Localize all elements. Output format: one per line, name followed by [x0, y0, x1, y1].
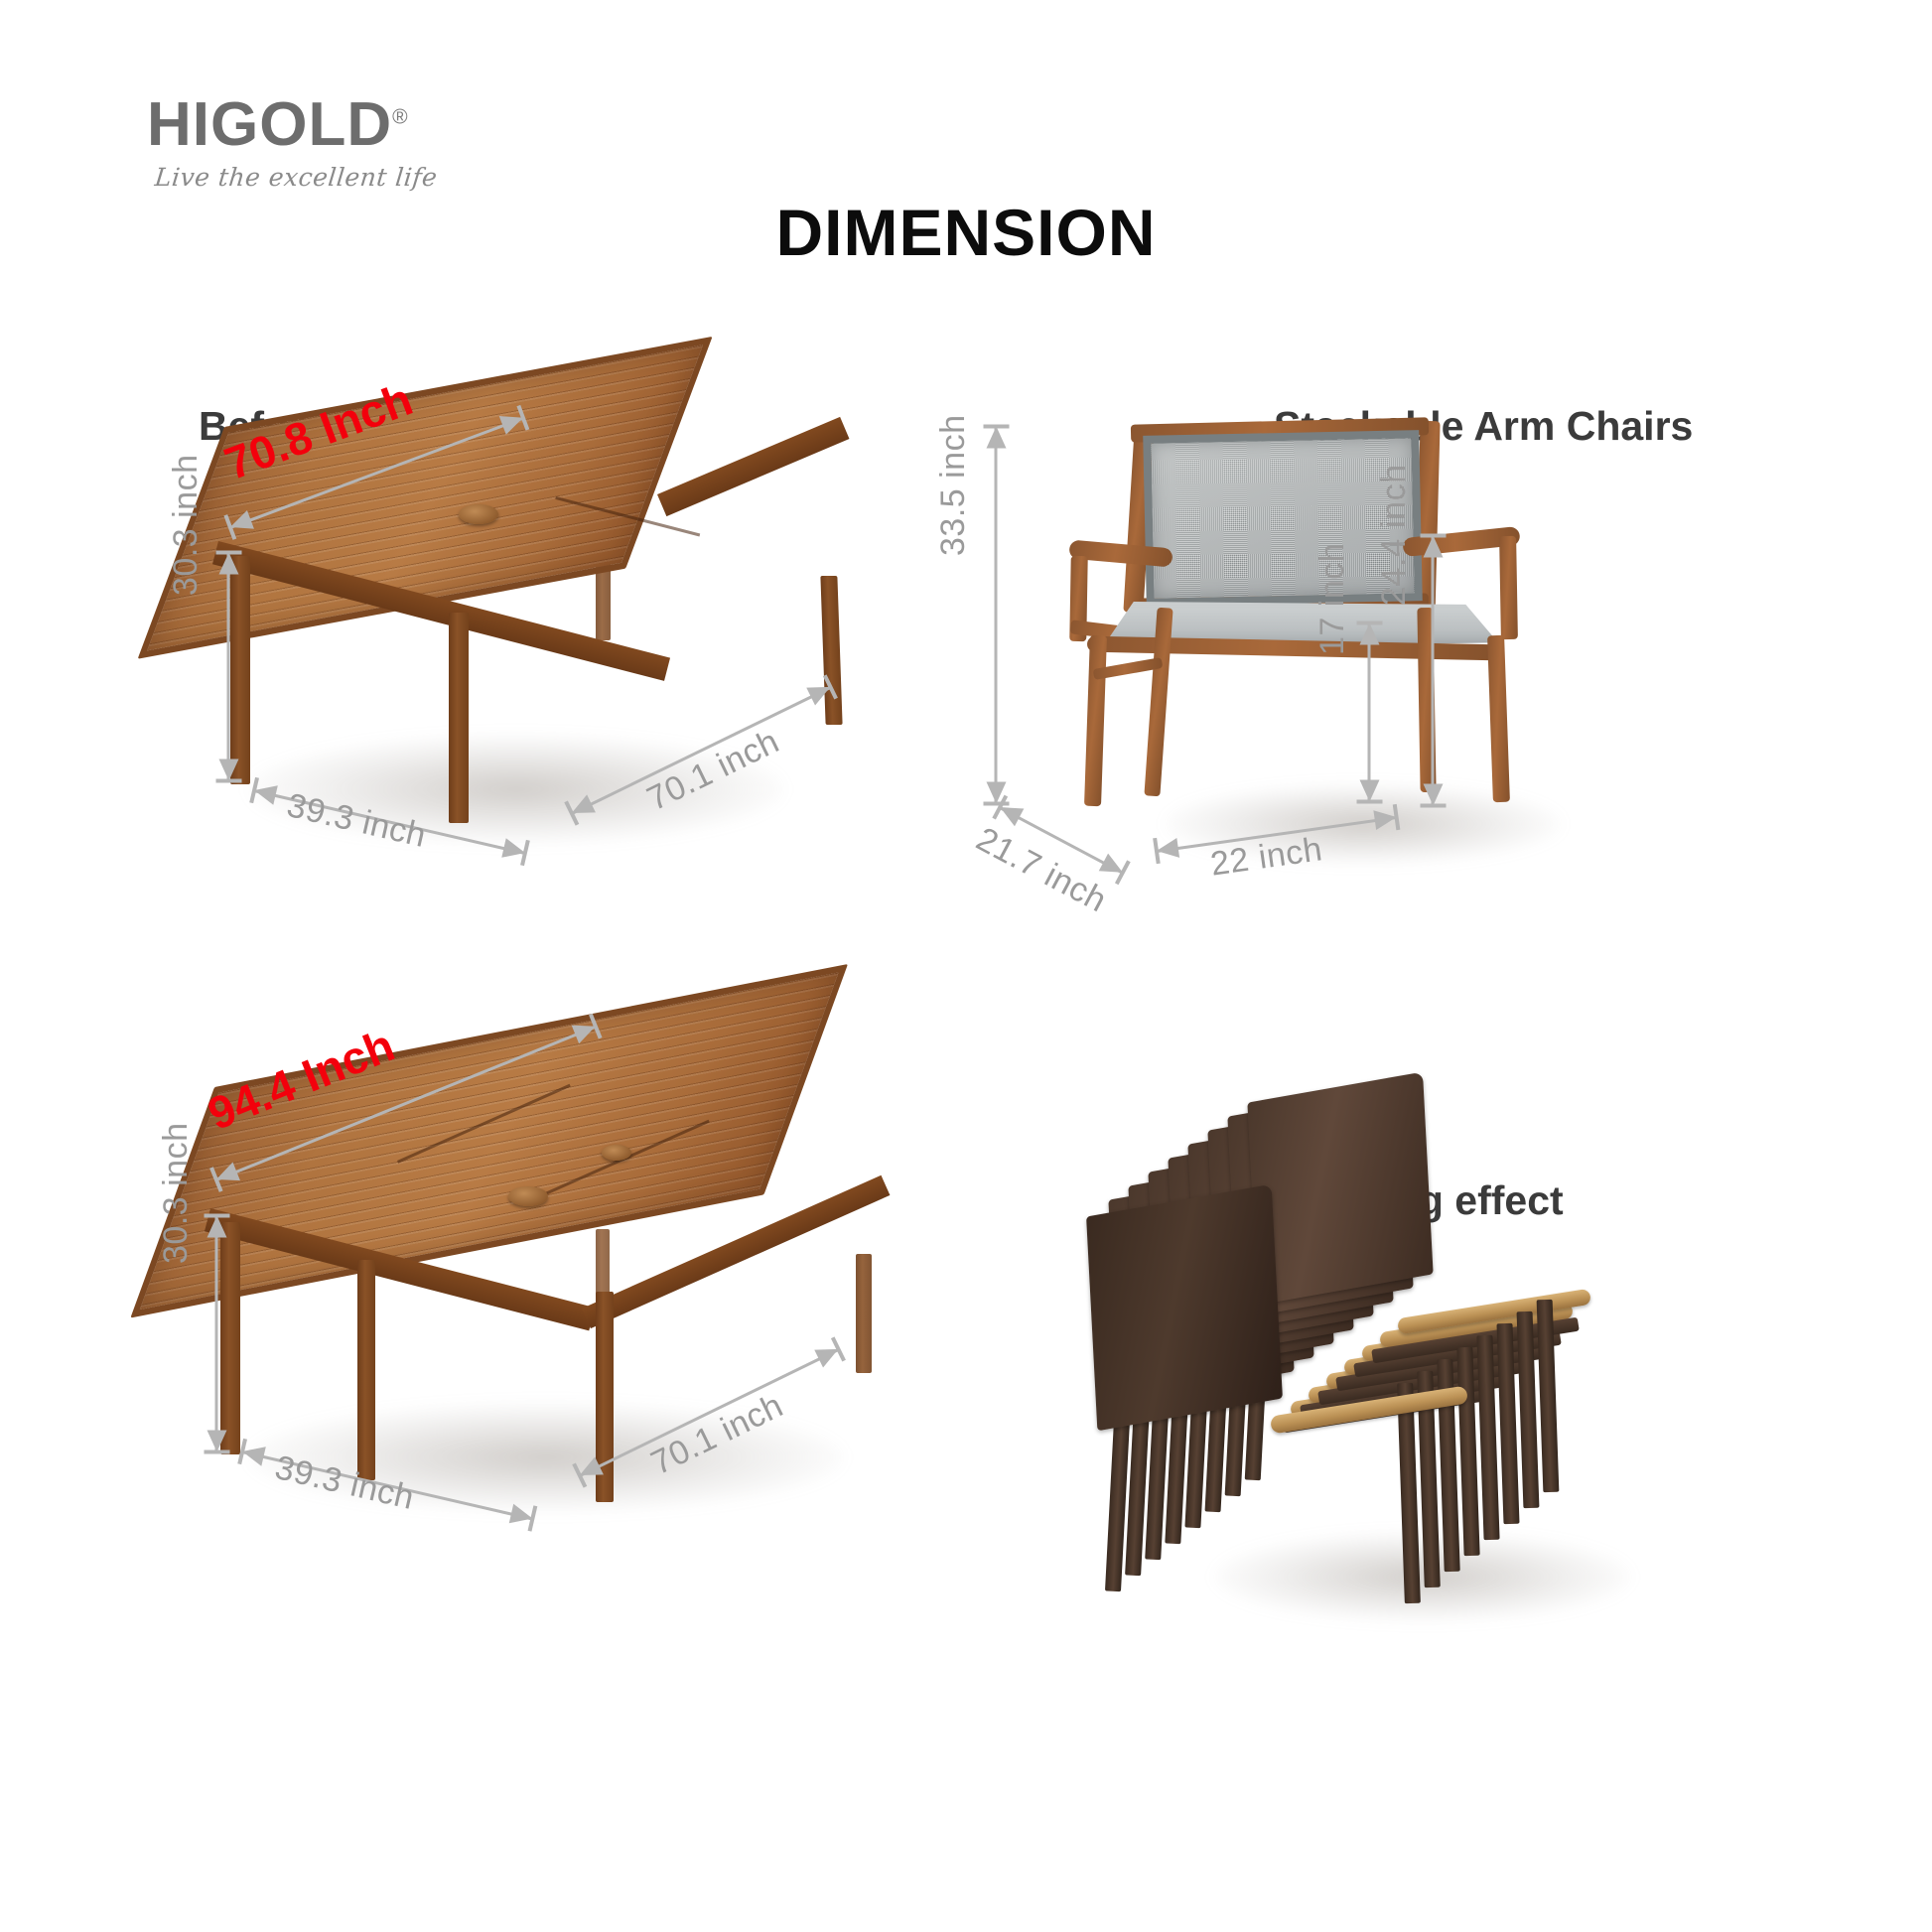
arrowhead-end-icon	[1424, 784, 1444, 806]
arrow-cap-end-icon	[205, 1450, 230, 1454]
table-leg-rear-right	[820, 576, 842, 725]
table-leg-front-left	[230, 556, 250, 784]
dining-table-before-extend	[0, 0, 966, 966]
dimension-line-height-before	[227, 553, 230, 781]
stacked-chair-leg-rear	[1397, 1383, 1421, 1603]
arrowhead-end-icon	[207, 1431, 227, 1452]
panel-stackable-arm-chairs: 33.5 inch 17 inch 24.4 inch 21.7 inch 22…	[966, 0, 1932, 966]
umbrella-hole-center	[508, 1186, 548, 1206]
arrow-cap-start-icon	[205, 1214, 230, 1218]
arrow-cap-end-icon	[1421, 804, 1447, 808]
arrowhead-start-icon	[987, 427, 1007, 449]
arrowhead-start-icon	[207, 1216, 227, 1238]
panel-after-extend: 94.4 Inch 30.3 inch 39.3 inch 70.1 inch	[0, 966, 966, 1932]
arrow-cap-end-icon	[216, 779, 242, 783]
dimension-label-overall-height-chair: 33.5 inch	[934, 415, 973, 557]
dimension-label-height-before: 30.3 inch	[167, 455, 206, 597]
dimension-label-height-after: 30.3 inch	[157, 1123, 196, 1265]
arrow-cap-start-icon	[216, 551, 242, 555]
arrowhead-start-icon	[219, 553, 239, 575]
panel-stacking-effect	[966, 966, 1932, 1932]
stacked-chairs	[966, 966, 1932, 1932]
front-chair-backrest	[1086, 1184, 1283, 1432]
dimension-label-seat-height-chair: 17 inch	[1313, 543, 1352, 655]
stackable-arm-chair	[966, 0, 1932, 966]
table-apron-right	[657, 417, 849, 516]
table-leg-front-right	[449, 613, 469, 823]
arrowhead-start-icon	[1360, 623, 1380, 645]
arrow-cap-start-icon	[1357, 621, 1383, 625]
arrow-cap-end-icon	[1357, 800, 1383, 804]
dimension-line-overall-height-chair	[995, 427, 998, 804]
table-leg-rear-right	[856, 1254, 872, 1373]
umbrella-hole	[459, 504, 498, 524]
arrowhead-start-icon	[1424, 536, 1444, 558]
table-leg-rear-left	[596, 1229, 610, 1299]
arrow-cap-start-icon	[984, 425, 1010, 429]
arrowhead-end-icon	[1360, 780, 1380, 802]
chair-leg-front-right	[1487, 635, 1510, 802]
umbrella-hole-secondary	[602, 1145, 631, 1161]
panel-before-extend: 70.8 Inch 30.3 inch 39.3 inch 70.1 inch	[0, 0, 966, 966]
dimension-label-arm-height-chair: 24.4 inch	[1375, 465, 1414, 607]
arrow-cap-start-icon	[1421, 534, 1447, 538]
dimension-line-seat-height-chair	[1368, 623, 1371, 802]
table-leg-front-left	[220, 1222, 240, 1454]
dining-table-after-extend	[0, 966, 966, 1932]
arrowhead-end-icon	[219, 759, 239, 781]
chair-leg-front-left	[1084, 635, 1107, 806]
table-leg-front-mid	[357, 1260, 375, 1480]
chair-arm-support-right	[1499, 536, 1518, 639]
dimension-line-arm-height-chair	[1432, 536, 1435, 806]
dimension-line-height-after	[215, 1216, 218, 1452]
